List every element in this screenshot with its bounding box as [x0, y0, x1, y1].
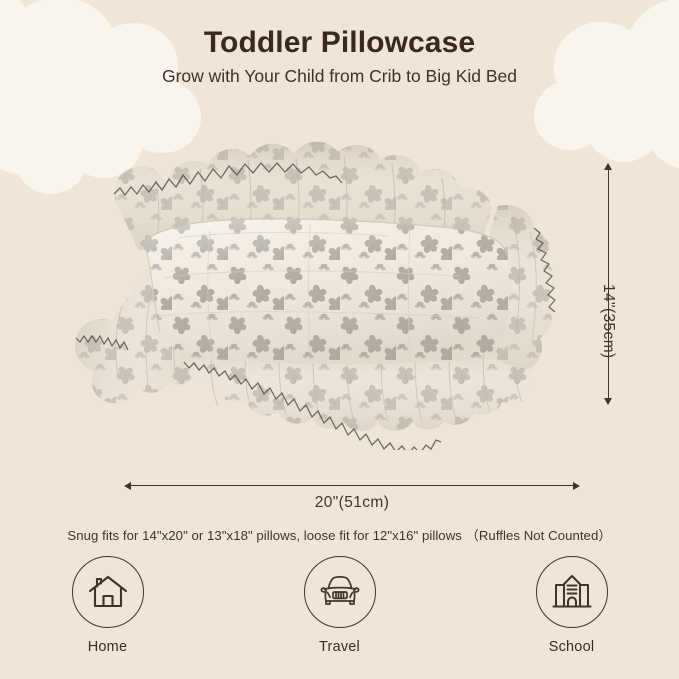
header: Toddler Pillowcase Grow with Your Child … [0, 26, 679, 87]
product-image [60, 110, 600, 450]
use-case-row: Home [0, 556, 679, 655]
height-dimension-label: 14"(35cm) [599, 284, 617, 359]
use-case-home-label: Home [88, 639, 127, 655]
use-case-school: School [517, 556, 627, 655]
infographic-page: Toddler Pillowcase Grow with Your Child … [0, 0, 679, 679]
car-icon [317, 569, 363, 615]
arrow-right-icon [573, 482, 580, 490]
width-dimension-line [130, 485, 574, 486]
use-case-travel-label: Travel [319, 639, 360, 655]
arrow-up-icon [604, 163, 612, 170]
height-dimension: 14"(35cm) [596, 165, 676, 403]
arrow-left-icon [124, 482, 131, 490]
width-dimension-label: 20"(51cm) [126, 494, 578, 512]
use-case-school-circle [536, 556, 608, 628]
page-title: Toddler Pillowcase [0, 26, 679, 59]
pillow-face [144, 219, 510, 364]
house-icon [86, 570, 130, 614]
width-dimension: 20"(51cm) [126, 478, 578, 518]
use-case-travel: Travel [285, 556, 395, 655]
arrow-down-icon [604, 398, 612, 405]
use-case-home-circle [72, 556, 144, 628]
use-case-school-label: School [549, 639, 595, 655]
page-subtitle: Grow with Your Child from Crib to Big Ki… [0, 66, 679, 87]
school-building-icon [550, 570, 594, 614]
use-case-home: Home [53, 556, 163, 655]
fit-note: Snug fits for 14"x20" or 13"x18" pillows… [0, 525, 679, 544]
use-case-travel-circle [304, 556, 376, 628]
